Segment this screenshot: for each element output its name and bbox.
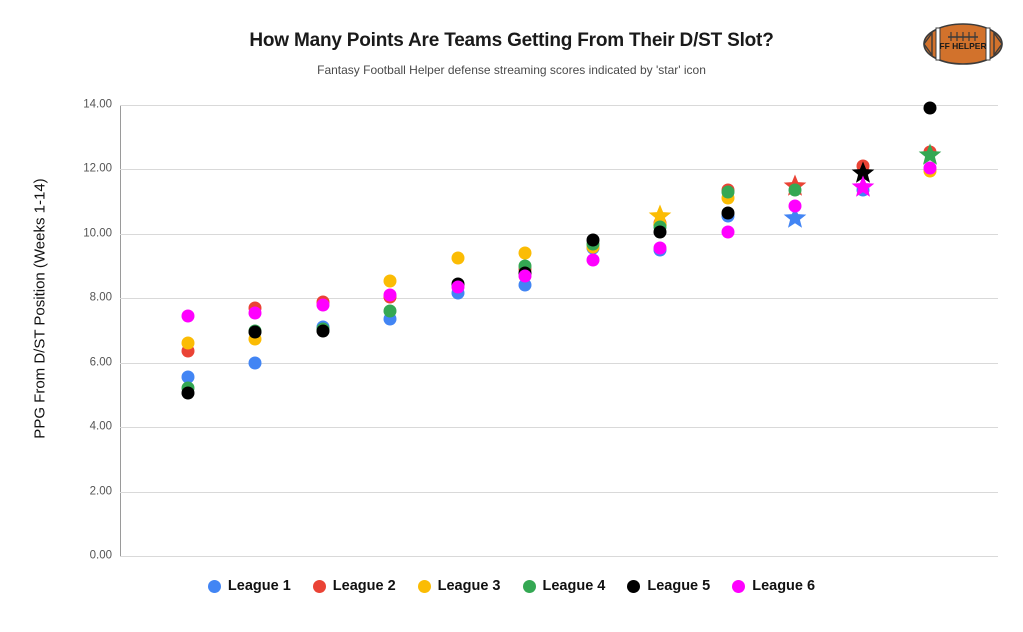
data-point — [451, 281, 464, 294]
data-point — [721, 226, 734, 239]
logo-text: FF HELPER — [939, 41, 986, 51]
legend-label: League 4 — [543, 578, 606, 594]
page-title: How Many Points Are Teams Getting From T… — [0, 30, 1023, 52]
y-axis-tick-label: 6.00 — [56, 357, 112, 369]
gridline — [120, 234, 998, 235]
data-point — [654, 226, 667, 239]
data-point — [384, 305, 397, 318]
y-axis-tick-label: 10.00 — [56, 228, 112, 240]
legend-swatch-icon — [627, 580, 640, 593]
data-point-star — [850, 174, 876, 200]
chart-subtitle: Fantasy Football Helper defense streamin… — [0, 63, 1023, 77]
legend-label: League 2 — [333, 578, 396, 594]
y-axis-tick-label: 8.00 — [56, 293, 112, 305]
legend-item-league-2[interactable]: League 2 — [313, 578, 396, 594]
data-point — [384, 274, 397, 287]
data-point — [249, 356, 262, 369]
legend-item-league-3[interactable]: League 3 — [418, 578, 501, 594]
data-point — [316, 298, 329, 311]
data-point — [586, 234, 599, 247]
data-point — [519, 269, 532, 282]
y-axis-title: PPG From D/ST Position (Weeks 1-14) — [32, 144, 49, 474]
data-point — [181, 310, 194, 323]
data-point — [721, 185, 734, 198]
y-axis-tick-label: 12.00 — [56, 164, 112, 176]
gridline — [120, 105, 998, 106]
data-point — [789, 184, 802, 197]
legend-swatch-icon — [523, 580, 536, 593]
data-point — [654, 242, 667, 255]
data-point — [384, 289, 397, 302]
data-point — [451, 252, 464, 265]
scatter-plot: 0.002.004.006.008.0010.0012.0014.00 — [120, 105, 998, 556]
legend-label: League 5 — [647, 578, 710, 594]
legend-swatch-icon — [208, 580, 221, 593]
legend-label: League 1 — [228, 578, 291, 594]
gridline — [120, 556, 998, 557]
football-icon: FF HELPER — [922, 20, 1004, 68]
ff-helper-logo: FF HELPER — [922, 20, 1004, 68]
legend-label: League 6 — [752, 578, 815, 594]
y-axis-tick-label: 14.00 — [56, 99, 112, 111]
gridline — [120, 298, 998, 299]
data-point — [181, 387, 194, 400]
gridline — [120, 427, 998, 428]
data-point — [249, 326, 262, 339]
data-point — [181, 337, 194, 350]
legend-item-league-5[interactable]: League 5 — [627, 578, 710, 594]
y-axis-tick-label: 2.00 — [56, 486, 112, 498]
legend-item-league-6[interactable]: League 6 — [732, 578, 815, 594]
data-point — [249, 306, 262, 319]
legend-item-league-4[interactable]: League 4 — [523, 578, 606, 594]
y-axis-tick-label: 4.00 — [56, 421, 112, 433]
data-point — [316, 324, 329, 337]
data-point — [789, 200, 802, 213]
data-point — [519, 247, 532, 260]
legend-swatch-icon — [418, 580, 431, 593]
legend-item-league-1[interactable]: League 1 — [208, 578, 291, 594]
chart-legend: League 1League 2League 3League 4League 5… — [0, 578, 1023, 594]
y-axis-tick-label: 0.00 — [56, 550, 112, 562]
legend-swatch-icon — [732, 580, 745, 593]
legend-swatch-icon — [313, 580, 326, 593]
legend-label: League 3 — [438, 578, 501, 594]
data-point — [586, 253, 599, 266]
gridline — [120, 492, 998, 493]
data-point — [721, 206, 734, 219]
data-point — [924, 102, 937, 115]
y-axis-line — [120, 105, 121, 556]
data-point — [924, 161, 937, 174]
